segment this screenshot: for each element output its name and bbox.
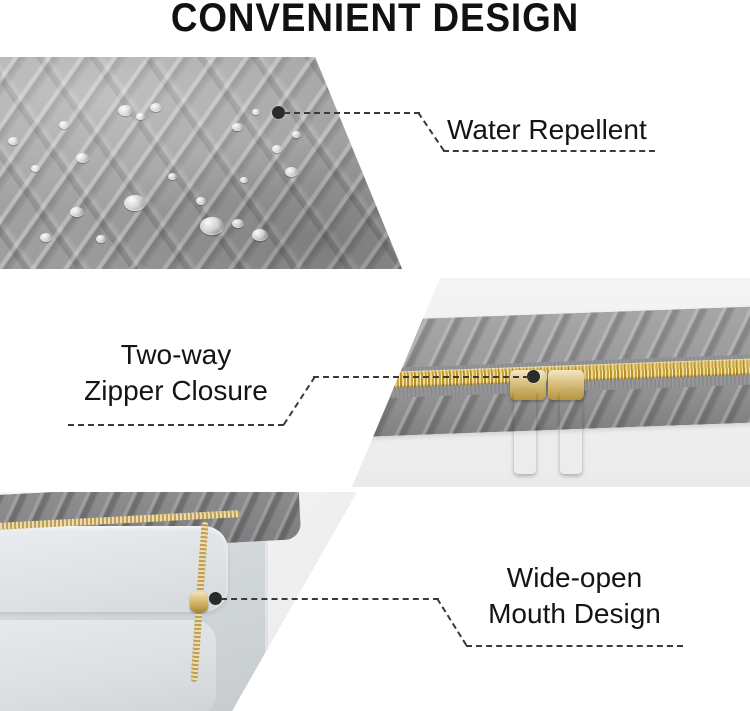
water-droplet: [150, 103, 162, 112]
water-droplet: [292, 131, 301, 138]
water-droplet: [59, 121, 69, 129]
water-droplet: [8, 137, 19, 145]
leader-line-water-diagonal: [417, 112, 444, 151]
feature-label-line: Mouth Design: [466, 596, 683, 632]
leader-line-zipper-h2: [68, 424, 284, 426]
leader-line-zipper-h1: [313, 376, 529, 378]
leader-line-mouth-h2: [466, 645, 683, 647]
water-droplet: [40, 233, 52, 242]
feature-label-line: Two-way: [68, 337, 284, 373]
leader-line-mouth-h1: [221, 598, 439, 600]
water-droplet: [252, 109, 260, 115]
water-droplet: [200, 217, 224, 235]
leader-line-water-h1: [284, 112, 420, 114]
water-droplet: [285, 167, 298, 177]
feature-image-two-way-zipper: [352, 278, 750, 487]
water-droplet: [232, 219, 244, 228]
feature-label-two-way-zipper: Two-way Zipper Closure: [68, 337, 284, 409]
water-droplet: [272, 145, 282, 153]
zipper-pull-tab-left: [514, 390, 536, 474]
feature-label-wide-open-mouth: Wide-open Mouth Design: [466, 560, 683, 632]
water-droplet: [196, 197, 206, 205]
leader-line-water-h2: [443, 150, 655, 152]
water-droplet: [232, 123, 243, 131]
water-droplet: [31, 165, 40, 172]
infographic-canvas: CONVENIENT DESIGN Water Repellent: [0, 0, 750, 711]
feature-label-line: Wide-open: [466, 560, 683, 596]
feature-label-line: Zipper Closure: [68, 373, 284, 409]
fabric-sheen-overlay: [0, 57, 402, 269]
zipper-slider: [190, 592, 208, 612]
leader-line-mouth-diagonal: [436, 598, 467, 646]
feature-image-water-repellent: [0, 57, 402, 269]
water-droplet: [124, 195, 146, 211]
zipper-pull-tab-right: [560, 390, 582, 474]
feature-label-water-repellent: Water Repellent: [447, 112, 647, 148]
page-title: CONVENIENT DESIGN: [30, 0, 720, 38]
feature-image-wide-open-mouth: [0, 492, 360, 711]
water-droplet: [76, 153, 89, 163]
plush-lining-lower: [0, 620, 216, 711]
water-droplet: [96, 235, 106, 243]
water-droplet: [240, 177, 248, 183]
water-droplet: [168, 173, 177, 180]
feature-label-line: Water Repellent: [447, 112, 647, 148]
water-droplet: [136, 113, 145, 120]
water-droplet: [70, 207, 84, 217]
water-droplet: [118, 105, 133, 116]
water-droplet: [252, 229, 268, 241]
leader-line-zipper-diagonal: [283, 376, 316, 425]
